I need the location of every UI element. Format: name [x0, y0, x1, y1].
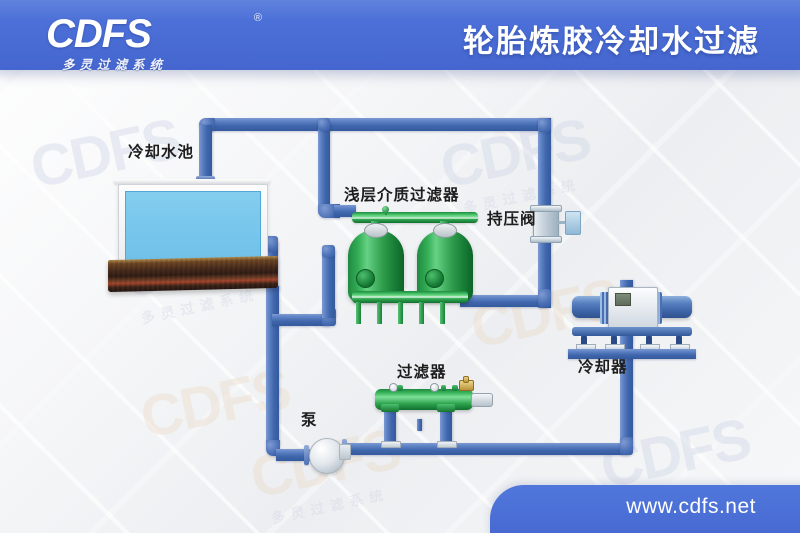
media-filter-leg: [398, 302, 403, 324]
horizontal-filter-end-cap: [471, 393, 493, 407]
pipe-elbow-media-feed-top: [318, 118, 330, 131]
pipe-elbow-branch-top: [322, 245, 335, 257]
filter-nozzle-mid: [441, 385, 446, 391]
filter-gauge-right: [430, 383, 439, 392]
media-filter-leg: [377, 302, 382, 324]
page-title: 轮胎炼胶冷却水过滤: [463, 16, 760, 61]
pipe-branch-vertical: [322, 250, 335, 318]
pipe-elbow-filter-discharge: [538, 289, 551, 307]
filter-leg-foot-right: [437, 441, 457, 448]
vessel-manway: [433, 223, 457, 238]
logo-subtitle: 多灵过滤系统: [62, 54, 167, 73]
wood-grain: [108, 256, 278, 292]
manifold-highlight: [352, 296, 468, 298]
media-filter-manifold-stem: [385, 211, 387, 215]
registered-trademark-icon: ®: [254, 12, 262, 24]
media-filter-bottom-manifold: [352, 291, 468, 303]
pump-discharge-neck: [339, 444, 351, 460]
pipe-drain-stub: [417, 419, 422, 431]
cooler-hmi-screen: [615, 293, 631, 306]
manifold-highlight: [352, 217, 478, 219]
label-cooling-pool: 冷却水池: [128, 140, 194, 162]
pipe-elbow-top-right: [538, 118, 551, 132]
label-filter: 过滤器: [397, 360, 447, 382]
cooler-base-frame: [572, 327, 692, 336]
filter-leg-foot-left: [381, 441, 401, 448]
media-filter-leg: [356, 302, 361, 324]
label-pressure-sustaining-valve: 持压阀: [487, 207, 537, 229]
pipe-filter-discharge: [460, 295, 546, 307]
valve-flange-bottom: [530, 236, 562, 243]
vessel-sight-port: [356, 269, 375, 288]
pipe-top-horizontal: [208, 118, 550, 131]
pipe-elbow-bottom-right: [620, 437, 633, 455]
brand-logo: CDFS ® 多灵过滤系统: [46, 14, 256, 70]
vessel-manway: [364, 223, 388, 238]
filter-leg-collar-left: [381, 404, 399, 412]
label-cooler: 冷却器: [578, 355, 628, 377]
pool-wood-base: [108, 256, 278, 292]
vessel-sight-port: [425, 269, 444, 288]
filter-nozzle-left: [397, 385, 403, 391]
filter-brass-valve-stem: [463, 376, 469, 383]
label-pump: 泵: [301, 408, 318, 430]
diagram-canvas: CDFS 多灵过滤系统 CDFS CDFS 多灵过滤系统 CDFS CDFS C…: [0, 0, 800, 533]
pipe-media-feed-vertical: [318, 124, 330, 210]
valve-actuator: [565, 211, 581, 235]
website-url: www.cdfs.net: [626, 495, 756, 519]
logo-wordmark: CDFS: [46, 14, 256, 54]
media-filter-leg: [440, 302, 445, 324]
pipe-suction-vertical: [266, 286, 279, 446]
filter-nozzle-right: [452, 385, 458, 391]
label-shallow-media-filter: 浅层介质过滤器: [344, 183, 460, 205]
media-filter-leg: [419, 302, 424, 324]
filter-leg-collar-right: [437, 404, 455, 412]
